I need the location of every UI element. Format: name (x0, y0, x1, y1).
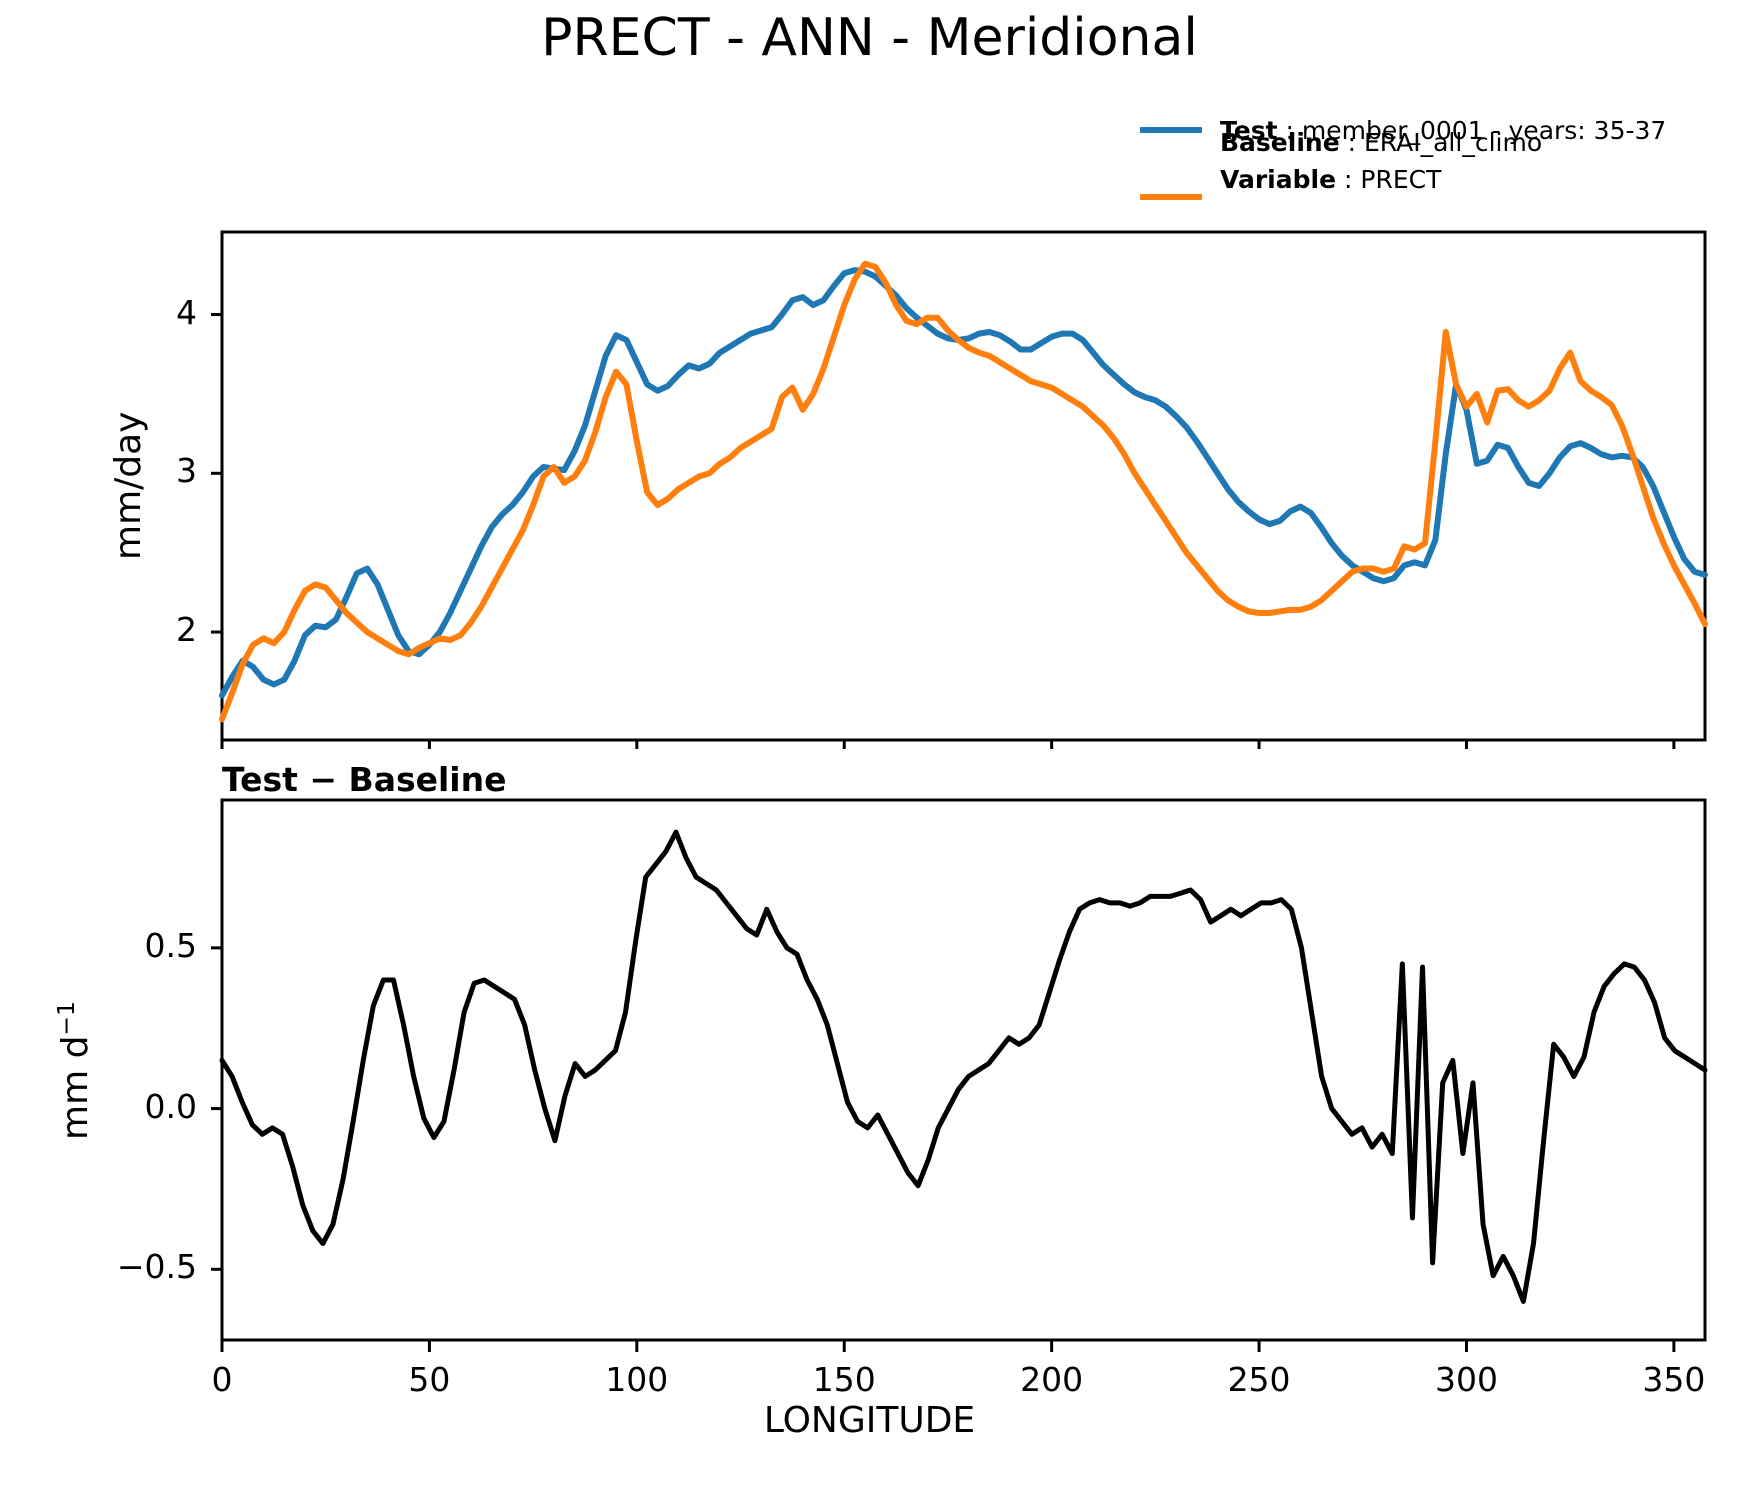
series-line (222, 270, 1705, 695)
x-tick-label: 300 (1406, 1360, 1526, 1399)
y-tick-label: 4 (7, 293, 197, 332)
bottom-panel (211, 800, 1705, 1352)
axes-frame (222, 800, 1705, 1340)
x-tick-label: 100 (577, 1360, 697, 1399)
x-tick-label: 200 (992, 1360, 1112, 1399)
series-line (222, 264, 1705, 720)
x-tick-label: 50 (369, 1360, 489, 1399)
y-tick-label: −0.5 (7, 1247, 197, 1286)
plot-area-svg (0, 0, 1739, 1496)
y-tick-label: 0.5 (7, 926, 197, 965)
axes-frame (222, 232, 1705, 740)
x-tick-label: 350 (1614, 1360, 1734, 1399)
figure-canvas: PRECT - ANN - Meridional Test : member_0… (0, 0, 1739, 1496)
x-tick-label: 150 (784, 1360, 904, 1399)
y-tick-label: 2 (7, 610, 197, 649)
top-panel (211, 232, 1705, 749)
x-tick-label: 0 (162, 1360, 282, 1399)
y-tick-label: 0.0 (7, 1087, 197, 1126)
series-line (222, 832, 1705, 1301)
y-tick-label: 3 (7, 451, 197, 490)
x-tick-label: 250 (1199, 1360, 1319, 1399)
